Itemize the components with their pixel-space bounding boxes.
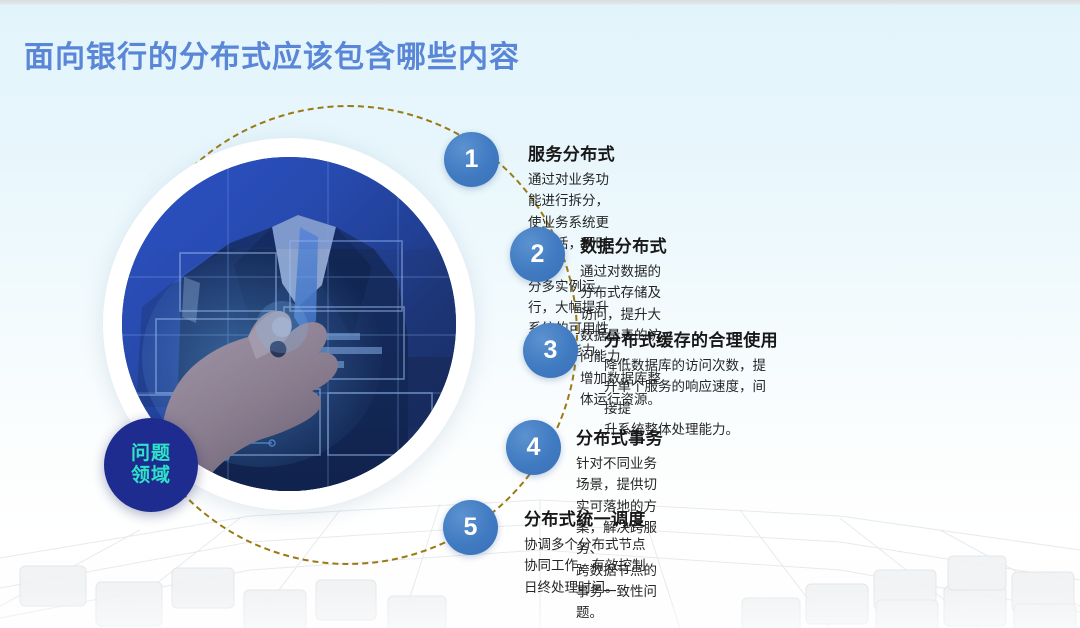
problem-domain-badge-line1: 问题: [131, 443, 171, 465]
item-text-5: 分布式统一调度 协调多个分布式节点协同工作，有效控制日终处理时间。: [524, 505, 646, 598]
slide-canvas: 面向银行的分布式应该包含哪些内容: [0, 0, 1080, 628]
problem-domain-badge: 问题 领域: [104, 418, 198, 512]
item-number-badge-2: 2: [510, 227, 565, 282]
item-heading-3: 分布式缓存的合理使用: [604, 326, 778, 351]
problem-domain-badge-line2: 领域: [131, 465, 171, 487]
item-heading-1: 服务分布式: [528, 140, 615, 165]
item-number-badge-5: 5: [443, 500, 498, 555]
item-number-badge-1: 1: [444, 132, 499, 187]
item-body-5: 协调多个分布式节点协同工作，有效控制日终处理时间。: [524, 534, 646, 598]
top-edge-strip: [0, 0, 1080, 5]
item-heading-5: 分布式统一调度: [524, 505, 646, 530]
item-heading-2: 数据分布式: [580, 232, 667, 257]
item-number-badge-3: 3: [523, 323, 578, 378]
item-number-badge-4: 4: [506, 420, 561, 475]
page-title: 面向银行的分布式应该包含哪些内容: [24, 32, 520, 76]
item-heading-4: 分布式事务: [576, 424, 663, 449]
